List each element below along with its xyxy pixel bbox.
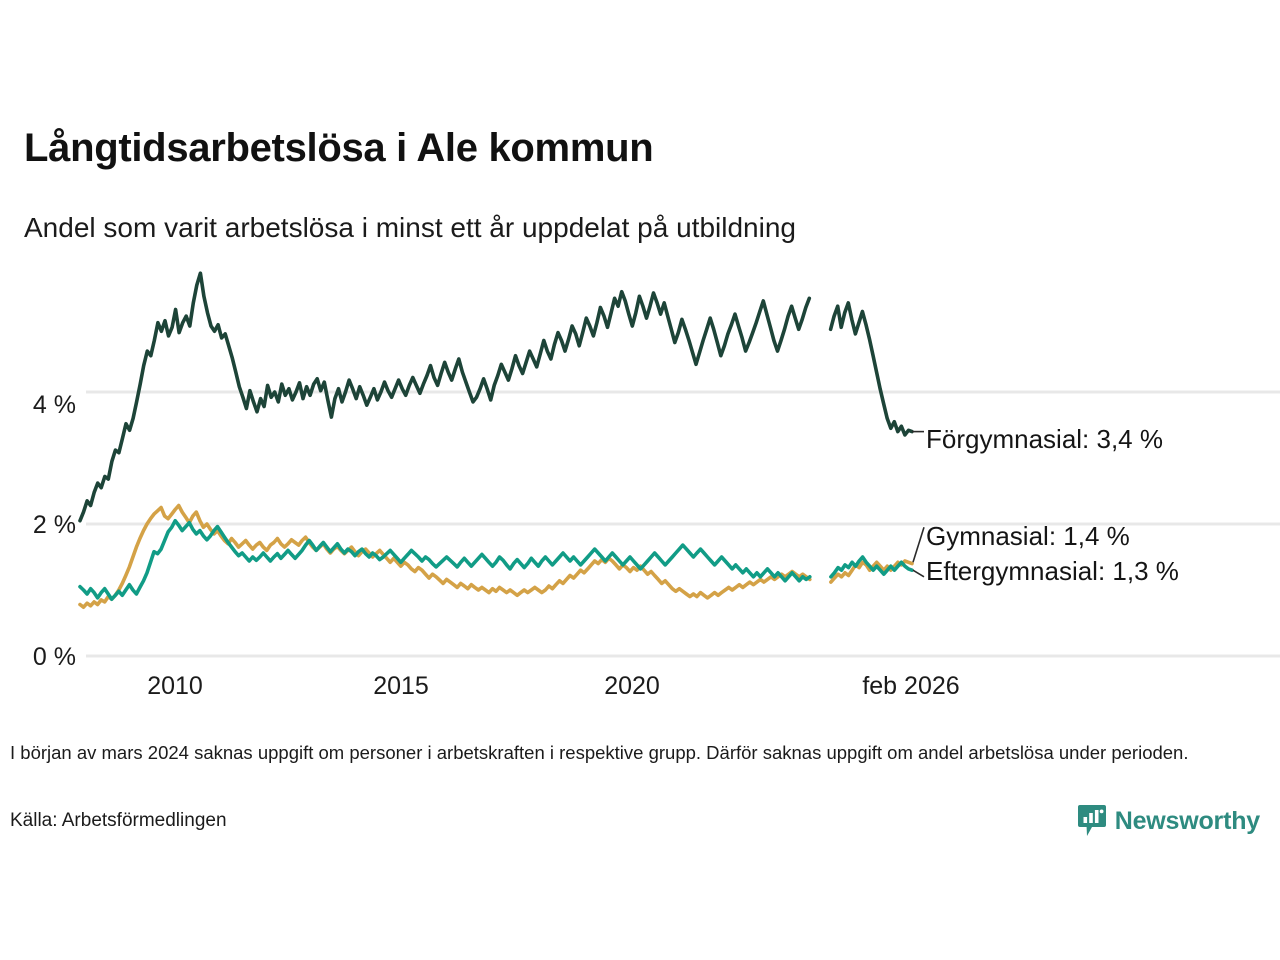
x-tick-label-2015: 2015 — [373, 672, 429, 701]
brand-logo: Newsworthy — [1077, 804, 1260, 838]
series-line-förgymnasial — [80, 273, 809, 521]
x-tick-label-feb-2026: feb 2026 — [862, 672, 959, 701]
series-label-gymnasial: Gymnasial: 1,4 % — [926, 521, 1130, 552]
x-tick-label-2020: 2020 — [604, 672, 660, 701]
y-tick-label-4pct: 4 % — [10, 391, 76, 420]
chart-subtitle: Andel som varit arbetslösa i minst ett å… — [24, 212, 796, 244]
leader-gymnasial — [913, 527, 924, 562]
series-line-eftergymnasial — [80, 521, 810, 600]
y-tick-label-0pct: 0 % — [10, 643, 76, 672]
line-chart-svg — [0, 260, 1280, 670]
series-label-forgymnasial: Förgymnasial: 3,4 % — [926, 424, 1163, 455]
page-title: Långtidsarbetslösa i Ale kommun — [24, 126, 653, 171]
footnote-text: I början av mars 2024 saknas uppgift om … — [10, 742, 1238, 765]
plot-area — [0, 260, 1280, 670]
y-tick-label-2pct: 2 % — [10, 511, 76, 540]
source-text: Källa: Arbetsförmedlingen — [10, 810, 227, 832]
chart-page: Långtidsarbetslösa i Ale kommun Andel so… — [0, 0, 1280, 960]
leader-eftergymnasial — [913, 570, 924, 577]
series-label-eftergymnasial: Eftergymnasial: 1,3 % — [926, 556, 1179, 587]
bar-chart-pin-icon — [1077, 804, 1107, 838]
series-line-förgymnasial — [831, 303, 912, 435]
x-tick-label-2010: 2010 — [147, 672, 203, 701]
brand-name: Newsworthy — [1115, 807, 1260, 836]
